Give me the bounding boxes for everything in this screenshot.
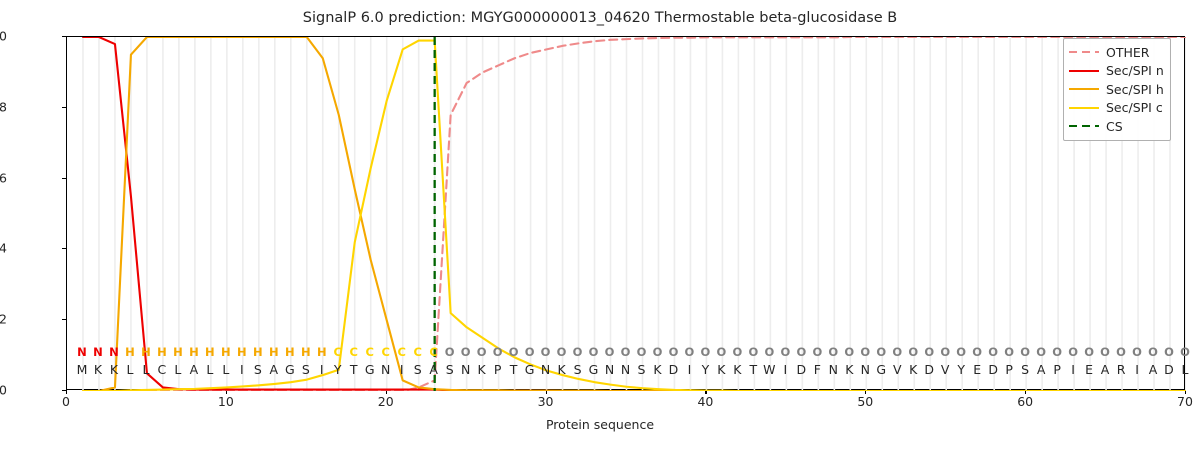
y-tick-label: 1.0 bbox=[0, 29, 7, 44]
residue-letter: C bbox=[155, 362, 169, 377]
residue-state-letter: O bbox=[682, 345, 696, 359]
residue-letter: A bbox=[1146, 362, 1160, 377]
residue-state-letter: O bbox=[1018, 345, 1032, 359]
series-sec-spi-h bbox=[83, 37, 1186, 391]
legend-item-label: Sec/SPI h bbox=[1106, 82, 1164, 97]
residue-state-letter: O bbox=[459, 345, 473, 359]
residue-letter: R bbox=[1114, 362, 1128, 377]
residue-state-letter: C bbox=[427, 345, 441, 359]
residue-state-letter: N bbox=[75, 345, 89, 359]
residue-letter: I bbox=[395, 362, 409, 377]
y-tick-label: 0.4 bbox=[0, 241, 7, 256]
x-tick-label: 0 bbox=[62, 394, 70, 409]
residue-state-letter: O bbox=[443, 345, 457, 359]
legend-item[interactable]: CS bbox=[1069, 117, 1164, 136]
residue-letter: Y bbox=[954, 362, 968, 377]
residue-state-letter: C bbox=[411, 345, 425, 359]
residue-state-letter: H bbox=[171, 345, 185, 359]
residue-state-letter: O bbox=[954, 345, 968, 359]
residue-letter: S bbox=[571, 362, 585, 377]
legend-item-label: Sec/SPI c bbox=[1106, 100, 1163, 115]
residue-letter: I bbox=[235, 362, 249, 377]
residue-state-letter: O bbox=[970, 345, 984, 359]
residue-state-letter: H bbox=[283, 345, 297, 359]
legend-color-swatch bbox=[1069, 83, 1099, 95]
y-tick-label: 0.0 bbox=[0, 383, 7, 398]
residue-state-letter: H bbox=[315, 345, 329, 359]
residue-state-letter: C bbox=[347, 345, 361, 359]
legend-item[interactable]: Sec/SPI h bbox=[1069, 80, 1164, 99]
residue-letter: N bbox=[459, 362, 473, 377]
residue-state-letter: H bbox=[235, 345, 249, 359]
gridlines bbox=[83, 37, 1186, 391]
residue-state-letter: O bbox=[698, 345, 712, 359]
residue-state-letter: O bbox=[1050, 345, 1064, 359]
residue-letter: N bbox=[539, 362, 553, 377]
residue-letter: S bbox=[443, 362, 457, 377]
residue-letter: S bbox=[634, 362, 648, 377]
residue-state-letter: O bbox=[842, 345, 856, 359]
y-tick-label: 0.2 bbox=[0, 312, 7, 327]
residue-letter: P bbox=[491, 362, 505, 377]
residue-letter: T bbox=[746, 362, 760, 377]
residue-letter: A bbox=[427, 362, 441, 377]
residue-state-letter: O bbox=[523, 345, 537, 359]
residue-letter: A bbox=[267, 362, 281, 377]
residue-letter: S bbox=[1018, 362, 1032, 377]
residue-letter: S bbox=[251, 362, 265, 377]
residue-state-letter: O bbox=[475, 345, 489, 359]
x-axis-label: Protein sequence bbox=[0, 417, 1200, 432]
residue-letter: T bbox=[347, 362, 361, 377]
chart-legend: OTHERSec/SPI nSec/SPI hSec/SPI cCS bbox=[1063, 38, 1171, 141]
residue-letter: K bbox=[842, 362, 856, 377]
residue-letter: S bbox=[299, 362, 313, 377]
residue-letter: D bbox=[1162, 362, 1176, 377]
residue-state-letter: O bbox=[906, 345, 920, 359]
residue-letter: V bbox=[890, 362, 904, 377]
residue-letter: V bbox=[938, 362, 952, 377]
residue-letter: W bbox=[762, 362, 776, 377]
residue-letter: L bbox=[1178, 362, 1192, 377]
residue-letter: I bbox=[778, 362, 792, 377]
residue-letter: K bbox=[906, 362, 920, 377]
residue-state-letter: N bbox=[91, 345, 105, 359]
residue-state-letter: O bbox=[746, 345, 760, 359]
residue-letter: L bbox=[219, 362, 233, 377]
residue-state-letter: O bbox=[1146, 345, 1160, 359]
x-tick-label: 70 bbox=[1177, 394, 1193, 409]
series-other bbox=[83, 37, 1186, 391]
residue-letter: G bbox=[587, 362, 601, 377]
residue-state-letter: C bbox=[379, 345, 393, 359]
residue-letter: L bbox=[123, 362, 137, 377]
residue-state-letter: O bbox=[1034, 345, 1048, 359]
x-tick-label: 40 bbox=[697, 394, 713, 409]
residue-state-letter: O bbox=[762, 345, 776, 359]
residue-letter: D bbox=[986, 362, 1000, 377]
residue-state-letter: O bbox=[1178, 345, 1192, 359]
x-tick-label: 30 bbox=[538, 394, 554, 409]
residue-state-letter: O bbox=[858, 345, 872, 359]
y-tick-label: 0.6 bbox=[0, 170, 7, 185]
residue-state-letter: O bbox=[1002, 345, 1016, 359]
residue-state-letter: N bbox=[107, 345, 121, 359]
residue-state-letter: H bbox=[299, 345, 313, 359]
residue-letter: N bbox=[379, 362, 393, 377]
residue-state-letter: O bbox=[826, 345, 840, 359]
residue-letter: I bbox=[1066, 362, 1080, 377]
residue-state-letter: C bbox=[363, 345, 377, 359]
residue-state-letter: O bbox=[1082, 345, 1096, 359]
residue-state-letter: H bbox=[123, 345, 137, 359]
legend-item[interactable]: Sec/SPI c bbox=[1069, 99, 1164, 118]
residue-state-letter: O bbox=[619, 345, 633, 359]
residue-letter: N bbox=[603, 362, 617, 377]
residue-letter: G bbox=[874, 362, 888, 377]
residue-state-letter: O bbox=[1130, 345, 1144, 359]
residue-letter: I bbox=[1130, 362, 1144, 377]
residue-letter: A bbox=[1098, 362, 1112, 377]
residue-letter: D bbox=[666, 362, 680, 377]
residue-letter: N bbox=[858, 362, 872, 377]
residue-state-letter: C bbox=[395, 345, 409, 359]
residue-state-letter: O bbox=[587, 345, 601, 359]
residue-letter: F bbox=[810, 362, 824, 377]
residue-state-letter: O bbox=[650, 345, 664, 359]
residue-state-letter: O bbox=[1098, 345, 1112, 359]
x-tick-label: 10 bbox=[218, 394, 234, 409]
residue-state-letter: H bbox=[139, 345, 153, 359]
residue-letter: G bbox=[363, 362, 377, 377]
legend-color-swatch bbox=[1069, 46, 1099, 58]
residue-state-letter: H bbox=[203, 345, 217, 359]
residue-letter: A bbox=[187, 362, 201, 377]
residue-letter: D bbox=[794, 362, 808, 377]
residue-state-letter: O bbox=[634, 345, 648, 359]
residue-letter: K bbox=[730, 362, 744, 377]
residue-letter: N bbox=[826, 362, 840, 377]
residue-letter: G bbox=[283, 362, 297, 377]
residue-letter: G bbox=[523, 362, 537, 377]
series-lines bbox=[83, 37, 1186, 391]
x-tick-label: 20 bbox=[378, 394, 394, 409]
residue-letter: P bbox=[1002, 362, 1016, 377]
residue-letter: N bbox=[619, 362, 633, 377]
residue-letter: I bbox=[682, 362, 696, 377]
residue-state-letter: H bbox=[251, 345, 265, 359]
series-sec-spi-c bbox=[83, 41, 1186, 391]
residue-state-letter: H bbox=[267, 345, 281, 359]
residue-letter: A bbox=[1034, 362, 1048, 377]
chart-canvas bbox=[67, 37, 1186, 391]
legend-item[interactable]: OTHER bbox=[1069, 43, 1164, 62]
residue-state-letter: O bbox=[603, 345, 617, 359]
residue-letter: K bbox=[91, 362, 105, 377]
residue-letter: K bbox=[107, 362, 121, 377]
legend-color-swatch bbox=[1069, 120, 1099, 132]
residue-state-letter: O bbox=[539, 345, 553, 359]
residue-state-letter: O bbox=[491, 345, 505, 359]
legend-item-label: Sec/SPI n bbox=[1106, 63, 1164, 78]
legend-color-swatch bbox=[1069, 102, 1099, 114]
residue-letter: T bbox=[507, 362, 521, 377]
residue-state-letter: O bbox=[507, 345, 521, 359]
legend-item[interactable]: Sec/SPI n bbox=[1069, 62, 1164, 81]
residue-state-letter: O bbox=[1066, 345, 1080, 359]
residue-letter: L bbox=[203, 362, 217, 377]
residue-state-letter: H bbox=[219, 345, 233, 359]
residue-letter: P bbox=[1050, 362, 1064, 377]
residue-state-letter: O bbox=[938, 345, 952, 359]
residue-state-letter: C bbox=[331, 345, 345, 359]
y-tick-label: 0.8 bbox=[0, 99, 7, 114]
residue-state-letter: H bbox=[187, 345, 201, 359]
residue-letter: K bbox=[475, 362, 489, 377]
residue-state-letter: O bbox=[794, 345, 808, 359]
residue-letter: E bbox=[1082, 362, 1096, 377]
residue-letter: Y bbox=[331, 362, 345, 377]
residue-state-letter: O bbox=[1162, 345, 1176, 359]
residue-state-letter: O bbox=[555, 345, 569, 359]
residue-state-letter: O bbox=[778, 345, 792, 359]
residue-state-letter: O bbox=[810, 345, 824, 359]
residue-state-letter: O bbox=[922, 345, 936, 359]
residue-letter: S bbox=[411, 362, 425, 377]
residue-letter: K bbox=[714, 362, 728, 377]
x-tick-label: 50 bbox=[857, 394, 873, 409]
residue-state-letter: H bbox=[155, 345, 169, 359]
residue-letter: E bbox=[970, 362, 984, 377]
residue-letter: I bbox=[315, 362, 329, 377]
residue-letter: L bbox=[171, 362, 185, 377]
x-tick-label: 60 bbox=[1017, 394, 1033, 409]
legend-color-swatch bbox=[1069, 65, 1099, 77]
series-sec-spi-n bbox=[83, 37, 1186, 391]
residue-state-letter: O bbox=[666, 345, 680, 359]
residue-state-letter: O bbox=[730, 345, 744, 359]
residue-letter: D bbox=[922, 362, 936, 377]
chart-title: SignalP 6.0 prediction: MGYG000000013_04… bbox=[0, 10, 1200, 26]
residue-letter: Y bbox=[698, 362, 712, 377]
residue-letter: M bbox=[75, 362, 89, 377]
residue-state-letter: O bbox=[1114, 345, 1128, 359]
legend-item-label: CS bbox=[1106, 119, 1123, 134]
residue-state-letter: O bbox=[986, 345, 1000, 359]
residue-letter: K bbox=[650, 362, 664, 377]
legend-item-label: OTHER bbox=[1106, 45, 1149, 60]
residue-state-letter: O bbox=[571, 345, 585, 359]
residue-state-letter: O bbox=[874, 345, 888, 359]
residue-letter: K bbox=[555, 362, 569, 377]
residue-state-letter: O bbox=[714, 345, 728, 359]
plot-area bbox=[66, 36, 1185, 390]
residue-letter: L bbox=[139, 362, 153, 377]
residue-state-letter: O bbox=[890, 345, 904, 359]
signalp-prediction-figure: SignalP 6.0 prediction: MGYG000000013_04… bbox=[0, 0, 1200, 450]
